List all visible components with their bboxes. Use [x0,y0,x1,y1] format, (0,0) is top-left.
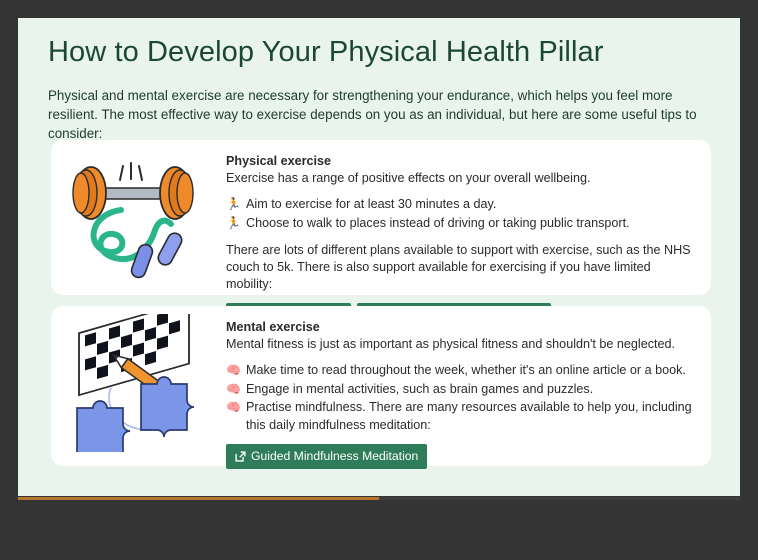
card-body: Physical exercise Exercise has a range o… [226,154,697,328]
card-subheading: Mental fitness is just as important as p… [226,336,697,353]
brain-icon: 🧠 [226,381,241,399]
bullet-list: 🏃 Aim to exercise for at least 30 minute… [226,196,697,232]
list-item-text: Make time to read throughout the week, w… [246,363,686,377]
crossword-pencil-puzzle-illustration [59,314,219,452]
page-title: How to Develop Your Physical Health Pill… [48,36,603,69]
external-link-icon [235,451,246,462]
button-label: Guided Mindfulness Meditation [251,449,418,463]
list-item-text: Choose to walk to places instead of driv… [246,216,630,230]
brain-icon: 🧠 [226,362,241,380]
list-item-text: Engage in mental activities, such as bra… [246,382,593,396]
card-mental-exercise: Mental exercise Mental fitness is just a… [51,306,711,466]
guided-mindfulness-meditation-button[interactable]: Guided Mindfulness Meditation [226,444,427,469]
running-person-icon: 🏃 [226,196,241,214]
footer-bar: Page 9 of 18 50% Completed Prev Next [0,500,758,560]
bullet-list: 🧠 Make time to read throughout the week,… [226,362,697,434]
running-person-icon: 🏃 [226,215,241,233]
card-subheading: Exercise has a range of positive effects… [226,170,697,187]
brain-icon: 🧠 [226,399,241,417]
list-item: 🏃 Aim to exercise for at least 30 minute… [226,196,697,214]
card-note: There are lots of different plans availa… [226,242,697,293]
link-button-row: Guided Mindfulness Meditation [226,444,697,469]
list-item-text: Practise mindfulness. There are many res… [246,400,692,432]
list-item-text: Aim to exercise for at least 30 minutes … [246,197,496,211]
list-item: 🧠 Practise mindfulness. There are many r… [226,399,697,434]
card-body: Mental exercise Mental fitness is just a… [226,320,697,469]
list-item: 🧠 Make time to read throughout the week,… [226,362,697,380]
dumbbell-and-jump-rope-illustration [59,148,219,286]
card-physical-exercise: Physical exercise Exercise has a range o… [51,140,711,295]
card-heading: Mental exercise [226,320,697,334]
list-item: 🏃 Choose to walk to places instead of dr… [226,215,697,233]
application-frame: How to Develop Your Physical Health Pill… [0,0,758,560]
content-panel: How to Develop Your Physical Health Pill… [18,18,740,496]
intro-paragraph: Physical and mental exercise are necessa… [48,86,716,143]
card-heading: Physical exercise [226,154,697,168]
list-item: 🧠 Engage in mental activities, such as b… [226,381,697,399]
